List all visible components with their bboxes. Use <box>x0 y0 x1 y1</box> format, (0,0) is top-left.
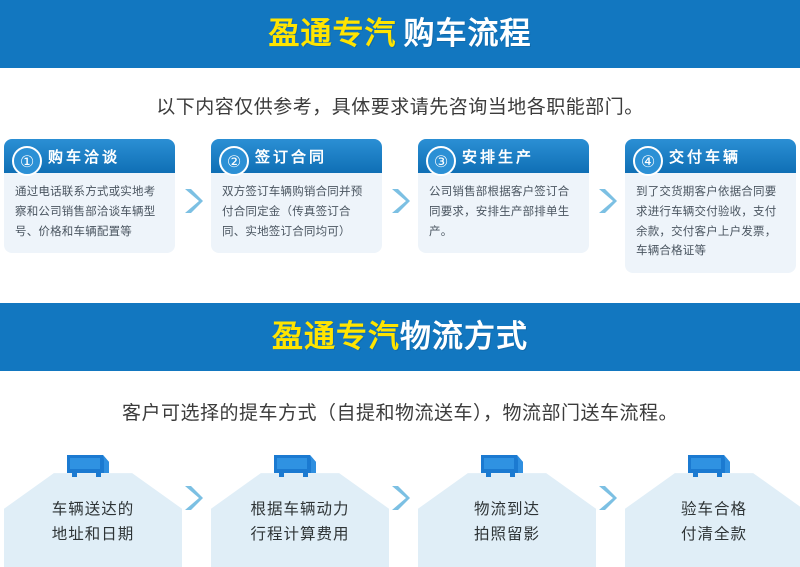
purchase-process-banner-text: 盈通专汽购车流程 <box>269 19 532 50</box>
banner-brand-text: 盈通专汽 <box>269 16 397 52</box>
step-card-2-title: 签订合同 <box>255 146 327 167</box>
logistics-card-3-line2: 拍照留影 <box>418 522 596 547</box>
step-card-1-number-badge: ① <box>12 146 42 176</box>
step-card-4: 交付车辆 ④ 到了交货期客户依据合同要求进行车辆交付验收，支付余款，交付客户上户… <box>625 139 796 273</box>
logistics-card-2-line1: 根据车辆动力 <box>211 497 389 522</box>
logistics-subtitle: 客户可选择的提车方式（自提和物流送车），物流部门送车流程。 <box>0 371 800 445</box>
truck-icon-4 <box>684 451 738 481</box>
truck-icon-1 <box>63 451 117 481</box>
banner-title-text: 购车流程 <box>404 16 532 52</box>
logistics-card-4-text: 验车合格 付清全款 <box>625 497 800 547</box>
logistics-card-1: 车辆送达的 地址和日期 <box>4 451 175 567</box>
step-card-3: 安排生产 ③ 公司销售部根据客户签订合同要求，安排生产部排单生产。 <box>418 139 589 253</box>
logistics-card-1-text: 车辆送达的 地址和日期 <box>4 497 182 547</box>
logistics-card-1-line1: 车辆送达的 <box>4 497 182 522</box>
step-card-3-number-badge: ③ <box>426 146 456 176</box>
logistics-banner-text: 盈通专汽物流方式 <box>272 322 528 353</box>
purchase-steps-row: 购车洽谈 ① 通过电话联系方式或实地考察和公司销售部洽谈车辆型号、价格和车辆配置… <box>0 139 800 273</box>
logistics-card-4-line1: 验车合格 <box>625 497 800 522</box>
chevron-right-icon-2 <box>382 139 418 215</box>
purchase-process-subtitle: 以下内容仅供参考，具体要求请先咨询当地各职能部门。 <box>0 68 800 139</box>
logistics-card-2-line2: 行程计算费用 <box>211 522 389 547</box>
chevron-right-icon-1 <box>175 139 211 215</box>
step-card-3-body: 公司销售部根据客户签订合同要求，安排生产部排单生产。 <box>418 173 589 253</box>
step-card-3-title: 安排生产 <box>462 146 534 167</box>
step-card-1: 购车洽谈 ① 通过电话联系方式或实地考察和公司销售部洽谈车辆型号、价格和车辆配置… <box>4 139 175 253</box>
truck-icon-2 <box>270 451 324 481</box>
logistics-card-2: 根据车辆动力 行程计算费用 <box>211 451 382 567</box>
step-card-4-title: 交付车辆 <box>669 146 741 167</box>
logistics-card-3-text: 物流到达 拍照留影 <box>418 497 596 547</box>
step-card-4-number-badge: ④ <box>633 146 663 176</box>
step-card-1-body: 通过电话联系方式或实地考察和公司销售部洽谈车辆型号、价格和车辆配置等 <box>4 173 175 253</box>
step-card-1-title: 购车洽谈 <box>48 146 120 167</box>
logistics-card-1-line2: 地址和日期 <box>4 522 182 547</box>
step-card-2: 签订合同 ② 双方签订车辆购销合同并预付合同定金（传真签订合同、实地签订合同均可… <box>211 139 382 253</box>
step-card-4-body: 到了交货期客户依据合同要求进行车辆交付验收，支付余款，交付客户上户发票，车辆合格… <box>625 173 796 273</box>
logistics-card-3-line1: 物流到达 <box>418 497 596 522</box>
purchase-process-banner: 盈通专汽购车流程 <box>0 0 800 68</box>
logistics-card-4: 验车合格 付清全款 <box>625 451 796 567</box>
logistics-card-3: 物流到达 拍照留影 <box>418 451 589 567</box>
step-card-2-body: 双方签订车辆购销合同并预付合同定金（传真签订合同、实地签订合同均可） <box>211 173 382 253</box>
logistics-banner-title-text: 物流方式 <box>400 319 528 355</box>
logistics-card-2-text: 根据车辆动力 行程计算费用 <box>211 497 389 547</box>
step-card-2-number-badge: ② <box>219 146 249 176</box>
logistics-banner: 盈通专汽物流方式 <box>0 303 800 371</box>
chevron-right-icon-3 <box>589 139 625 215</box>
logistics-banner-brand-text: 盈通专汽 <box>272 319 400 355</box>
logistics-cards-row: 车辆送达的 地址和日期 根据车辆动力 行程计算费用 <box>0 451 800 567</box>
logistics-card-4-line2: 付清全款 <box>625 522 800 547</box>
truck-icon-3 <box>477 451 531 481</box>
